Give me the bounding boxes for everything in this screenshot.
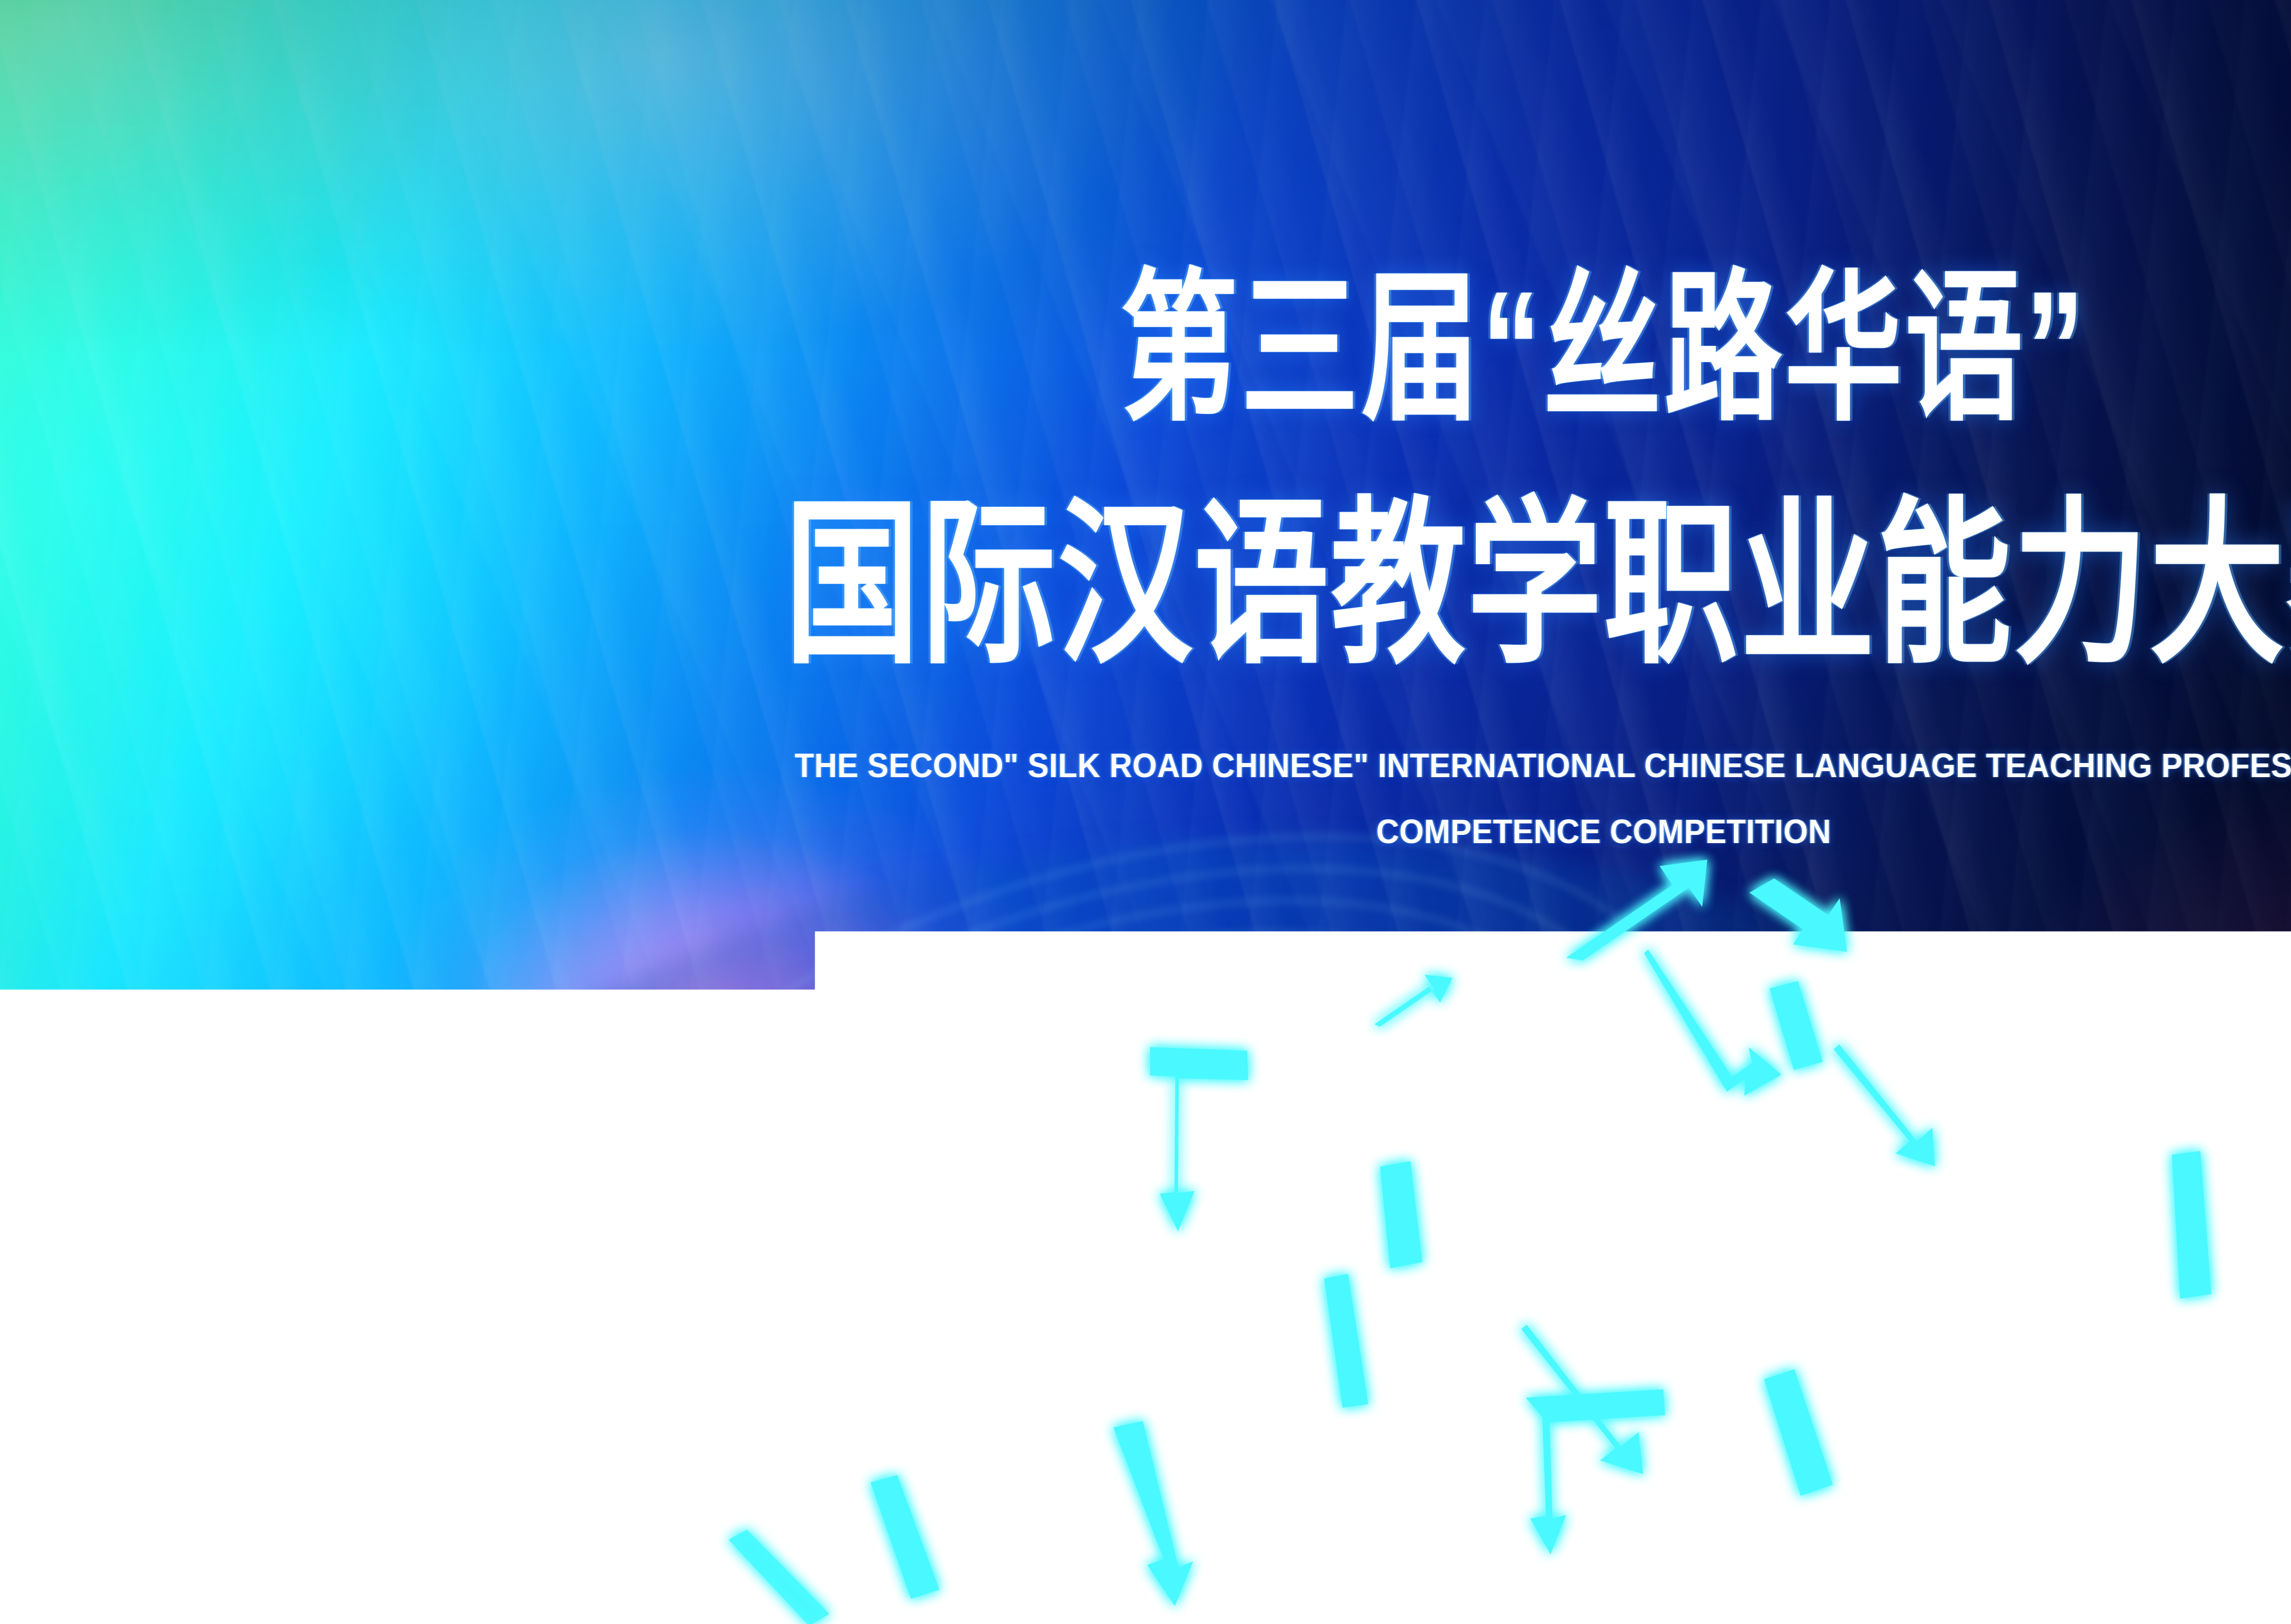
subtitle-line-1: THE SECOND" SILK ROAD CHINESE" INTERNATI… bbox=[112, 749, 2291, 783]
subtitle-line-2: COMPETENCE COMPETITION bbox=[112, 815, 2291, 849]
title-line-1: 第三届“丝路华语” bbox=[64, 267, 2291, 430]
title-line-2: 国际汉语教学职业能力大赛 bbox=[32, 495, 2291, 674]
banner-canvas: 第三届“丝路华语” 国际汉语教学职业能力大赛 THE SECOND" SILK … bbox=[0, 0, 2291, 1624]
arrow-cluster bbox=[0, 0, 2291, 1624]
